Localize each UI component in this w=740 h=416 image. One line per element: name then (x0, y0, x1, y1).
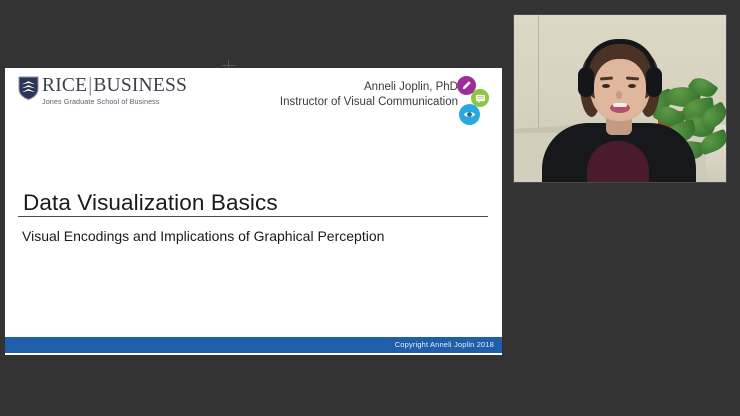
presenter-webcam-feed[interactable] (514, 15, 726, 182)
slide-subtitle: Visual Encodings and Implications of Gra… (22, 228, 384, 244)
title-divider-rule (18, 216, 488, 217)
presenter-icon-cluster (452, 76, 492, 128)
logo-tagline: Jones Graduate School of Business (42, 97, 187, 106)
presenter-role: Instructor of Visual Communication (280, 95, 458, 110)
slide-title: Data Visualization Basics (23, 190, 278, 216)
presenter-name: Anneli Joplin, PhD (280, 80, 458, 95)
logo-wordmark: RICE|BUSINESS (42, 76, 187, 96)
eye-icon (459, 104, 480, 125)
webcam-scene (514, 15, 726, 182)
presenter-eye (602, 84, 610, 88)
headphone-headband (584, 39, 656, 73)
presentation-slide[interactable]: RICE|BUSINESS Jones Graduate School of B… (5, 68, 502, 355)
presenter-eye (628, 84, 636, 88)
logo-wordmark-business: BUSINESS (93, 75, 187, 96)
rice-shield-icon (18, 76, 39, 100)
logo-wordmark-rice: RICE (42, 75, 87, 96)
wall-seam (538, 15, 539, 133)
slide-footer-bar: Copyright Anneli Joplin 2018 (5, 337, 502, 353)
video-player-frame: RICE|BUSINESS Jones Graduate School of B… (0, 0, 740, 416)
rice-business-logo: RICE|BUSINESS Jones Graduate School of B… (18, 76, 187, 106)
presenter-credit: Anneli Joplin, PhD Instructor of Visual … (280, 80, 458, 110)
copyright-text: Copyright Anneli Joplin 2018 (395, 340, 494, 349)
presenter-teeth (613, 103, 627, 107)
presenter-nose (616, 91, 622, 99)
